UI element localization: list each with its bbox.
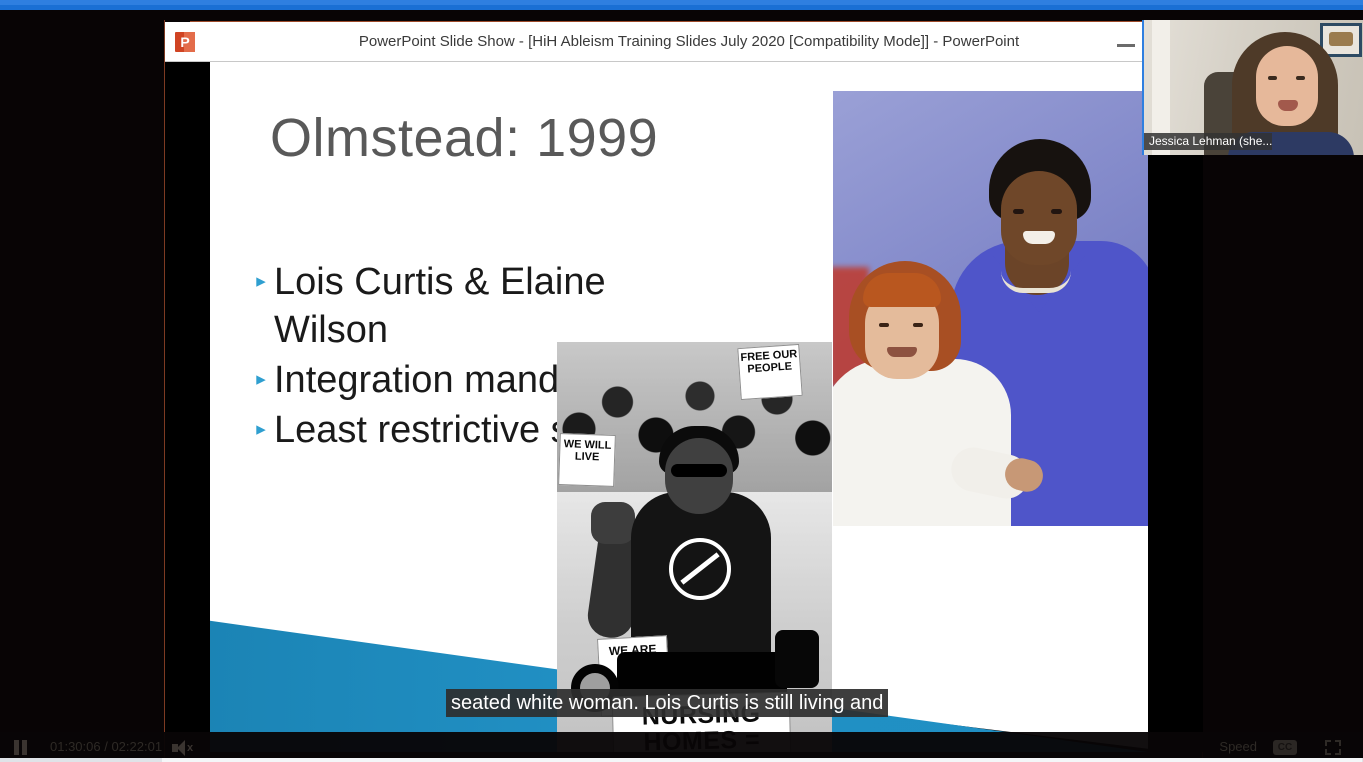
top-blue-band-highlight	[0, 0, 1363, 5]
bullet-triangle-icon: ▸	[248, 356, 274, 389]
mute-icon[interactable]: x	[172, 740, 194, 756]
slide-title: Olmstead: 1999	[270, 107, 658, 169]
page-bottom-strip	[0, 758, 1363, 762]
list-item: ▸ Lois Curtis & Elaine Wilson	[248, 258, 668, 354]
minimize-button[interactable]	[1117, 44, 1135, 47]
bullet-text: Lois Curtis & Elaine Wilson	[274, 258, 668, 354]
window-title: PowerPoint Slide Show - [HiH Ableism Tra…	[165, 22, 1203, 62]
pause-button[interactable]	[14, 740, 28, 755]
protest-sign-free-our-people: FREE OUR PEOPLE	[737, 344, 802, 400]
screen-root: P PowerPoint Slide Show - [HiH Ableism T…	[0, 0, 1363, 762]
closed-captions-button[interactable]: CC	[1273, 740, 1297, 755]
bullet-triangle-icon: ▸	[248, 406, 274, 439]
letterbox-right	[1148, 62, 1203, 752]
participant-name-label: Jessica Lehman (she...	[1144, 133, 1272, 150]
time-display: 01:30:06 / 02:22:01	[50, 739, 162, 754]
bullet-triangle-icon: ▸	[248, 258, 274, 291]
video-player-surface[interactable]: P PowerPoint Slide Show - [HiH Ableism T…	[0, 10, 1363, 762]
closed-caption-text: seated white woman. Lois Curtis is still…	[446, 689, 888, 717]
powerpoint-title-bar: P PowerPoint Slide Show - [HiH Ableism T…	[165, 22, 1203, 62]
fullscreen-icon[interactable]	[1325, 740, 1341, 755]
speed-button[interactable]: Speed	[1219, 739, 1257, 754]
slide-canvas[interactable]: Olmstead: 1999 ▸ Lois Curtis & Elaine Wi…	[210, 62, 1148, 752]
participant-video-tile[interactable]: Jessica Lehman (she...	[1142, 20, 1363, 155]
letterbox-left	[165, 62, 210, 752]
protest-sign-we-will-live: WE WILL LIVE	[558, 433, 616, 487]
lois-curtis-and-elaine-wilson-portrait	[833, 91, 1148, 526]
top-blue-band	[0, 0, 1363, 10]
